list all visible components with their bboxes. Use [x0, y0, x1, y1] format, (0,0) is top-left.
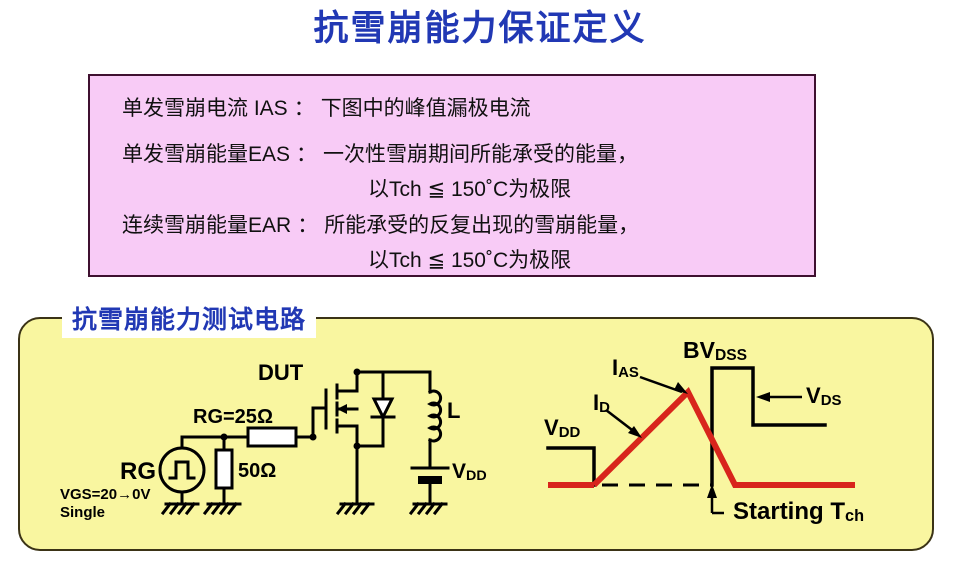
label-single-pulse: Single [60, 504, 105, 521]
label-id: ID [593, 390, 610, 416]
label-pulse-generator: RG [120, 458, 156, 486]
definition-colon: ： [291, 213, 324, 239]
definition-continuation: 以Tch ≦ 150˚C为极限 [368, 248, 571, 274]
label-vdd-waveform: VDD [544, 415, 580, 441]
definition-box: 单发雪崩电流 IAS：下图中的峰值漏极电流 单发雪崩能量EAS：一次性雪崩期间所… [88, 74, 816, 277]
definition-term: 单发雪崩能量EAS [122, 142, 290, 168]
definition-row: 单发雪崩能量EAS：一次性雪崩期间所能承受的能量， [122, 142, 638, 168]
label-vdd-sub: DD [559, 424, 581, 441]
label-inductor: L [447, 398, 460, 424]
definition-description: 所能承受的反复出现的雪崩能量， [324, 213, 639, 239]
definition-colon: ： [290, 142, 323, 168]
definition-row: 连续雪崩能量EAR：所能承受的反复出现的雪崩能量， [122, 213, 639, 239]
label-gate-resistor-unit: Ω [257, 406, 273, 428]
definition-term: 连续雪崩能量EAR [122, 213, 291, 239]
label-starting-sub: ch [845, 507, 864, 525]
label-supply-voltage: VDD [452, 460, 487, 484]
definition-term: 单发雪崩电流 IAS [122, 96, 288, 122]
label-vgs-drive: VGS=20→0V [60, 486, 150, 503]
label-bvdss-sub: DSS [715, 347, 747, 364]
definition-colon: ： [288, 96, 321, 122]
label-dut: DUT [258, 360, 303, 386]
label-load-resistor: 50Ω [238, 460, 276, 483]
label-starting-main: Starting T [733, 498, 845, 525]
circuit-panel-title: 抗雪崩能力测试电路 [62, 303, 316, 338]
definition-row: 单发雪崩电流 IAS：下图中的峰值漏极电流 [122, 96, 531, 122]
label-supply-main: V [452, 460, 466, 483]
label-gate-resistor-value: RG=25 [193, 406, 257, 428]
definition-description: 一次性雪崩期间所能承受的能量， [323, 142, 638, 168]
label-vds-sub: DS [821, 392, 842, 409]
label-starting-tch: Starting Tch [733, 498, 864, 526]
label-vds-main: V [806, 383, 821, 408]
label-load-resistor-unit: Ω [260, 460, 276, 482]
label-id-sub: D [599, 399, 610, 416]
label-vds: VDS [806, 383, 841, 409]
label-bvdss-main: BV [683, 337, 715, 363]
definition-continuation: 以Tch ≦ 150˚C为极限 [368, 177, 571, 203]
label-load-resistor-value: 50 [238, 460, 260, 482]
page-title: 抗雪崩能力保证定义 [0, 6, 960, 52]
label-bvdss: BVDSS [683, 337, 747, 364]
label-supply-sub: DD [466, 468, 487, 484]
label-gate-resistor: RG=25Ω [193, 406, 273, 429]
label-ias: IAS [612, 355, 639, 381]
label-ias-sub: AS [618, 364, 639, 381]
label-vdd-main: V [544, 415, 559, 440]
definition-description: 下图中的峰值漏极电流 [321, 96, 531, 122]
